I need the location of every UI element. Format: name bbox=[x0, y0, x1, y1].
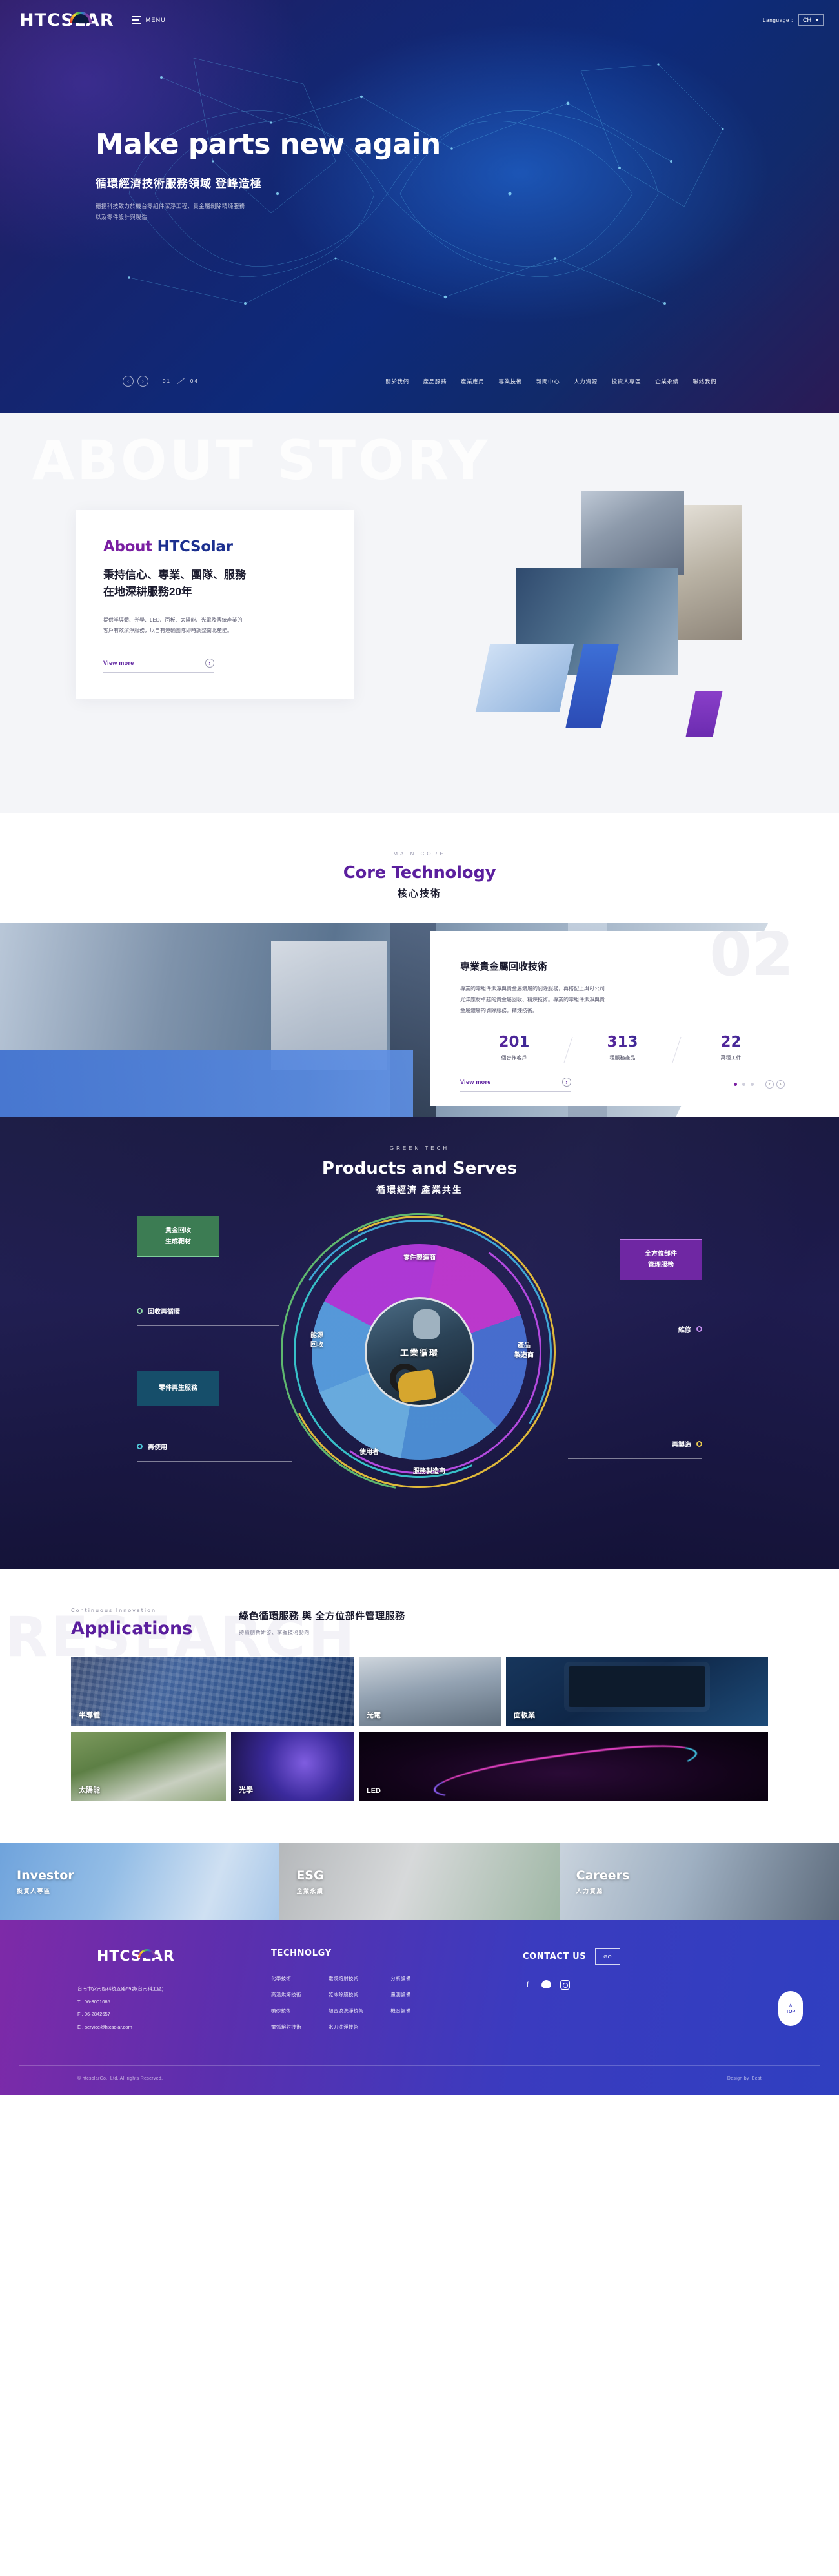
language-label: Language : bbox=[763, 17, 793, 23]
core-card-text: 專業的零組件潔淨與貴金屬鍍層的剝除服務，再搭配上與母公司 光洋應材卓越的貴金屬回… bbox=[460, 983, 785, 1017]
footer-design-by: Design by iBest bbox=[727, 2076, 762, 2081]
bullet-icon bbox=[696, 1326, 702, 1332]
banner-esg-zh: 企業永續 bbox=[296, 1886, 559, 1895]
core-card-footer: View more › ‹ › bbox=[460, 1078, 785, 1092]
footer-link-plasmaspray[interactable]: 電漿熔射技術 bbox=[329, 1975, 364, 1982]
stat-workpieces: 22 萬種工件 bbox=[677, 1034, 785, 1061]
line-icon[interactable] bbox=[541, 1980, 551, 1988]
footer-link-ultrasonic[interactable]: 超音波洗淨技術 bbox=[329, 2007, 364, 2014]
nav-item-news[interactable]: 新聞中心 bbox=[536, 378, 560, 385]
legend-remanufacture: 再製造 bbox=[672, 1439, 702, 1449]
about-view-more-button[interactable]: View more › bbox=[103, 659, 214, 673]
about-eyebrow: About HTCSolar bbox=[103, 538, 328, 555]
stat-workpieces-label: 萬種工件 bbox=[677, 1054, 785, 1061]
app-card-panel-label: 面板業 bbox=[514, 1710, 535, 1720]
core-photo-bath bbox=[0, 1050, 413, 1117]
page-root: HTCSLAR MENU Language : CH Make parts ne… bbox=[0, 0, 839, 2095]
nav-item-investor[interactable]: 投資人專區 bbox=[612, 378, 642, 385]
core-body: 02 專業貴金屬回收技術 專業的零組件潔淨與貴金屬鍍層的剝除服務，再搭配上與母公… bbox=[0, 923, 839, 1117]
hero-subtitle: 循環經濟技術服務領域 登峰造極 bbox=[96, 174, 441, 190]
footer-tech-col-2: 電漿熔射技術 乾冰除膜技術 超音波洗淨技術 水刀洗淨技術 bbox=[329, 1975, 364, 2039]
app-card-semiconductor-label: 半導體 bbox=[79, 1710, 100, 1720]
site-logo[interactable]: HTCSLAR bbox=[19, 10, 114, 30]
logo-text: HTCSLAR bbox=[19, 10, 114, 30]
app-card-optoelectronics-label: 光電 bbox=[367, 1710, 381, 1720]
segment-service-maker: 服務製造商 bbox=[413, 1467, 445, 1477]
about-heading-line-2: 在地深耕服務20年 bbox=[103, 584, 328, 600]
about-heading: 秉持信心、專業、團隊、服務 在地深耕服務20年 bbox=[103, 567, 328, 601]
footer-contact-row: CONTACT US GO bbox=[523, 1948, 762, 1965]
about-shape-purple bbox=[685, 691, 722, 737]
hamburger-icon bbox=[132, 16, 141, 24]
footer-technology-title: TECHNOLGY bbox=[271, 1948, 523, 1958]
footer-email[interactable]: E . service@htcsolar.com bbox=[77, 2021, 271, 2034]
nav-item-about[interactable]: 關於我們 bbox=[385, 378, 409, 385]
legend-reuse: 再使用 bbox=[137, 1442, 167, 1451]
banner-careers[interactable]: Careers 人力資源 bbox=[560, 1843, 839, 1920]
about-shape-light bbox=[476, 644, 574, 712]
tag-precious-metal-recovery: 貴金回收 生成靶材 bbox=[137, 1216, 219, 1257]
about-view-more-label: View more bbox=[103, 660, 134, 666]
about-card: About HTCSolar 秉持信心、專業、團隊、服務 在地深耕服務20年 提… bbox=[76, 510, 354, 699]
app-card-semiconductor[interactable]: 半導體 bbox=[71, 1657, 354, 1726]
legend-repair-label: 維修 bbox=[678, 1324, 691, 1334]
connector-line-4 bbox=[568, 1458, 702, 1459]
footer-copyright: © htcsolarCo., Ltd. All rights Reserved. bbox=[77, 2076, 163, 2081]
bullet-icon bbox=[696, 1441, 702, 1447]
about-photo-top bbox=[581, 491, 684, 575]
stat-products: 313 種服務產品 bbox=[569, 1034, 676, 1061]
segment-user: 使用者 bbox=[359, 1447, 379, 1457]
core-text-line-2: 光洋應材卓越的貴金屬回收、精煉技術。專業的零組件潔淨與貴 bbox=[460, 997, 605, 1003]
instagram-icon[interactable] bbox=[560, 1980, 570, 1990]
footer-tel: T . 06-3001065 bbox=[77, 1996, 271, 2009]
footer-inner: HTCSLAR 台南市安南區科技五路69號(台南科工區) T . 06-3001… bbox=[77, 1948, 762, 2039]
about-ghost-text: ABOUT STORY bbox=[32, 429, 490, 492]
banner-investor-zh: 投資人專區 bbox=[17, 1886, 279, 1895]
app-card-panel[interactable]: 面板業 bbox=[506, 1657, 768, 1726]
menu-label: MENU bbox=[146, 17, 166, 23]
footer-technology-links: 化學技術 高溫烘烤技術 噴砂技術 電弧熔射技術 電漿熔射技術 乾冰除膜技術 超音… bbox=[271, 1975, 523, 2039]
footer-contact-title: CONTACT US bbox=[523, 1952, 586, 1961]
chevron-up-icon: ∧ bbox=[789, 2003, 793, 2009]
hero-description: 德揚科技致力於機台零組件潔淨工程、貴金屬剝除精煉服務 以及零件設計與製造 bbox=[96, 201, 441, 221]
applications-grid: 半導體 光電 面板業 太陽能 光學 LED bbox=[71, 1657, 768, 1801]
core-prev-button[interactable]: ‹ bbox=[765, 1080, 774, 1089]
pagination-dot[interactable] bbox=[751, 1083, 754, 1086]
slide-total: 04 bbox=[190, 378, 199, 384]
stat-customers-label: 個合作客戶 bbox=[460, 1054, 568, 1061]
bullet-icon bbox=[137, 1444, 143, 1449]
applications-heading-left: Continuous Innovation Applications bbox=[71, 1608, 192, 1639]
core-ghost-number: 02 bbox=[709, 931, 794, 985]
footer-link-hightemp[interactable]: 高溫烘烤技術 bbox=[271, 1991, 301, 1998]
footer-link-sandblast[interactable]: 噴砂技術 bbox=[271, 2007, 301, 2014]
stat-products-label: 種服務產品 bbox=[569, 1054, 676, 1061]
site-header: HTCSLAR MENU Language : CH bbox=[0, 0, 839, 40]
slide-separator bbox=[177, 378, 185, 384]
footer-link-machine-equipment[interactable]: 機台設備 bbox=[390, 2007, 410, 2014]
stat-customers-number: 201 bbox=[460, 1034, 568, 1050]
about-paragraph-line-2: 客戶有效潔淨服務，以自有運輸團隊即時調整南北產能。 bbox=[103, 626, 328, 637]
products-section: GREEN TECH Products and Serves 循環經濟 產業共生… bbox=[0, 1117, 839, 1569]
promo-banners: Investor 投資人專區 ESG 企業永續 Careers 人力資源 bbox=[0, 1843, 839, 1920]
applications-heading: Continuous Innovation Applications 綠色循環服… bbox=[0, 1608, 839, 1639]
footer-address: 台南市安南區科技五路69號(台南科工區) bbox=[77, 1983, 271, 1996]
nav-item-products[interactable]: 產品服務 bbox=[423, 378, 447, 385]
nav-item-applications[interactable]: 產業應用 bbox=[461, 378, 484, 385]
footer-link-arcspray[interactable]: 電弧熔射技術 bbox=[271, 2023, 301, 2030]
nav-item-esg[interactable]: 企業永續 bbox=[655, 378, 678, 385]
tag-parts-regeneration: 零件再生服務 bbox=[137, 1371, 219, 1406]
hero-next-button[interactable]: › bbox=[137, 376, 148, 387]
back-to-top-label: TOP bbox=[786, 2010, 795, 2014]
nav-item-hr[interactable]: 人力資源 bbox=[574, 378, 597, 385]
core-title-zh: 核心技術 bbox=[0, 886, 839, 900]
app-card-solar-label: 太陽能 bbox=[79, 1784, 100, 1795]
legend-repair: 維修 bbox=[678, 1324, 702, 1334]
about-eyebrow-brand: HTCSolar bbox=[157, 538, 233, 555]
stat-customers: 201 個合作客戶 bbox=[460, 1034, 568, 1061]
segment-parts-maker: 零件製造商 bbox=[403, 1253, 436, 1263]
banner-esg[interactable]: ESG 企業永續 bbox=[279, 1843, 559, 1920]
products-eyebrow: GREEN TECH bbox=[0, 1145, 839, 1151]
core-stats: 201 個合作客戶 313 種服務產品 22 萬種工件 bbox=[460, 1034, 785, 1063]
hero-bottom-bar: ‹ › 01 04 關於我們 產品服務 產業應用 專業技術 新聞中心 人力資源 … bbox=[123, 376, 716, 387]
pagination-dot-active[interactable] bbox=[734, 1083, 737, 1086]
legend-recycle-label: 回收再循環 bbox=[148, 1306, 180, 1316]
segment-energy-recovery: 能源回收 bbox=[310, 1331, 323, 1350]
facebook-icon[interactable]: f bbox=[523, 1980, 532, 1990]
bullet-icon bbox=[137, 1308, 143, 1314]
core-view-more-label: View more bbox=[460, 1079, 491, 1085]
core-next-button[interactable]: › bbox=[776, 1080, 785, 1089]
hero-divider bbox=[123, 362, 716, 362]
core-technology-section: MAIN CORE Core Technology 核心技術 02 專業貴金屬回… bbox=[0, 813, 839, 1117]
app-card-optics-label: 光學 bbox=[239, 1784, 253, 1795]
connector-line-1 bbox=[137, 1325, 279, 1326]
about-paragraph-line-1: 提供半導體、光學、LED、面板、太陽能、光電及傳統產業的 bbox=[103, 615, 328, 626]
tag-purple-line-1: 全方位部件 bbox=[631, 1249, 691, 1260]
footer-logo[interactable]: HTCSLAR bbox=[97, 1948, 175, 1965]
applications-subtitle-zh: 持續創新研發、掌握技術動向 bbox=[239, 1629, 405, 1636]
tag-purple-line-2: 管理服務 bbox=[631, 1260, 691, 1271]
products-title-en: Products and Serves bbox=[0, 1159, 839, 1178]
app-card-led[interactable]: LED bbox=[359, 1732, 768, 1801]
legend-reuse-label: 再使用 bbox=[148, 1442, 167, 1451]
arrow-right-icon: › bbox=[205, 659, 214, 668]
core-view-more-button[interactable]: View more › bbox=[460, 1078, 571, 1092]
applications-title-zh: 綠色循環服務 與 全方位部件管理服務 bbox=[239, 1609, 405, 1622]
footer-tech-col-3: 分析設備 量測設備 機台設備 bbox=[390, 1975, 410, 2039]
footer-bottom: © htcsolarCo., Ltd. All rights Reserved.… bbox=[77, 2066, 762, 2095]
footer-logo-text: HTCSLAR bbox=[97, 1948, 175, 1965]
core-arrows: ‹ › bbox=[765, 1080, 785, 1089]
connector-line-2 bbox=[137, 1461, 292, 1462]
core-slider-pagination: ‹ › bbox=[734, 1080, 785, 1089]
menu-button[interactable]: MENU bbox=[132, 16, 166, 24]
footer-social-links: f bbox=[523, 1980, 762, 1990]
applications-eyebrow: Continuous Innovation bbox=[71, 1608, 192, 1613]
chevron-down-icon bbox=[815, 19, 819, 21]
core-card-title: 專業貴金屬回收技術 bbox=[460, 959, 785, 973]
back-to-top-button[interactable]: ∧ TOP bbox=[778, 1991, 803, 2026]
banner-careers-zh: 人力資源 bbox=[576, 1886, 839, 1895]
applications-heading-right: 綠色循環服務 與 全方位部件管理服務 持續創新研發、掌握技術動向 bbox=[239, 1609, 405, 1639]
tag-total-parts-management: 全方位部件 管理服務 bbox=[620, 1239, 702, 1280]
legend-recycle: 回收再循環 bbox=[137, 1306, 180, 1316]
segment-product-maker: 產品製造商 bbox=[514, 1341, 534, 1360]
footer-link-dryice[interactable]: 乾冰除膜技術 bbox=[329, 1991, 364, 1998]
products-heading: GREEN TECH Products and Serves 循環經濟 產業共生 bbox=[0, 1117, 839, 1196]
footer-link-measurement-equipment[interactable]: 量測設備 bbox=[390, 1991, 410, 1998]
footer-link-waterjet[interactable]: 水刀洗淨技術 bbox=[329, 2023, 364, 2030]
pagination-dot[interactable] bbox=[742, 1083, 745, 1086]
app-card-led-label: LED bbox=[367, 1787, 381, 1795]
core-text-line-3: 金屬鍍層的剝除服務，精煉技術。 bbox=[460, 1008, 538, 1014]
footer-fax: F . 06-2842657 bbox=[77, 2008, 271, 2021]
slide-current: 01 bbox=[163, 378, 171, 384]
footer-link-chemical[interactable]: 化學技術 bbox=[271, 1975, 301, 1982]
hero-desc-line-2: 以及零件設計與製造 bbox=[96, 212, 441, 222]
arrow-right-icon: › bbox=[562, 1078, 571, 1087]
tag-green-line-1: 貴金回收 bbox=[148, 1225, 208, 1236]
banner-esg-en: ESG bbox=[296, 1868, 559, 1883]
hero-arrows: ‹ › bbox=[123, 376, 148, 387]
legend-remanufacture-label: 再製造 bbox=[672, 1439, 691, 1449]
about-heading-line-1: 秉持信心、專業、團隊、服務 bbox=[103, 567, 328, 584]
footer-go-button[interactable]: GO bbox=[595, 1948, 620, 1965]
hero-title: Make parts new again bbox=[96, 129, 441, 160]
footer-link-analysis-equipment[interactable]: 分析設備 bbox=[390, 1975, 410, 1982]
banner-careers-en: Careers bbox=[576, 1868, 839, 1883]
banner-investor[interactable]: Investor 投資人專區 bbox=[0, 1843, 279, 1920]
about-eyebrow-about: About bbox=[103, 538, 157, 555]
core-title-en: Core Technology bbox=[0, 863, 839, 883]
diagram-rings: 工業循環 零件製造商 產品製造商 服務製造商 使用者 能源回收 bbox=[281, 1213, 558, 1491]
footer-contact-info: 台南市安南區科技五路69號(台南科工區) T . 06-3001065 F . … bbox=[77, 1983, 271, 2033]
applications-section: RESEARCH Continuous Innovation Applicati… bbox=[0, 1569, 839, 1843]
hero-desc-line-1: 德揚科技致力於機台零組件潔淨工程、貴金屬剝除精煉服務 bbox=[96, 201, 441, 211]
hero-slide-counter: 01 04 bbox=[163, 378, 199, 384]
language-select[interactable]: CH bbox=[798, 14, 824, 26]
core-text-line-1: 專業的零組件潔淨與貴金屬鍍層的剝除服務，再搭配上與母公司 bbox=[460, 986, 605, 992]
footer-company-column: HTCSLAR 台南市安南區科技五路69號(台南科工區) T . 06-3001… bbox=[77, 1948, 271, 2033]
footer-tech-col-1: 化學技術 高溫烘烤技術 噴砂技術 電弧熔射技術 bbox=[271, 1975, 301, 2039]
circular-economy-diagram: 貴金回收 生成靶材 零件再生服務 全方位部件 管理服務 回收再循環 再使用 維修 bbox=[0, 1201, 839, 1505]
tag-teal-line-1: 零件再生服務 bbox=[148, 1383, 208, 1394]
stat-products-number: 313 bbox=[569, 1034, 676, 1050]
site-footer: HTCSLAR 台南市安南區科技五路69號(台南科工區) T . 06-3001… bbox=[0, 1920, 839, 2095]
hero-section: HTCSLAR MENU Language : CH Make parts ne… bbox=[0, 0, 839, 413]
about-paragraph: 提供半導體、光學、LED、面板、太陽能、光電及傳統產業的 客戶有效潔淨服務，以自… bbox=[103, 615, 328, 637]
language-value: CH bbox=[803, 17, 811, 23]
core-eyebrow: MAIN CORE bbox=[0, 851, 839, 857]
header-right: Language : CH bbox=[763, 14, 824, 26]
hero-content: Make parts new again 循環經濟技術服務領域 登峰造極 德揚科… bbox=[96, 129, 441, 222]
app-card-optics[interactable]: 光學 bbox=[231, 1732, 354, 1801]
footer-contact-column: CONTACT US GO f bbox=[523, 1948, 762, 1990]
app-card-optoelectronics[interactable]: 光電 bbox=[359, 1657, 501, 1726]
connector-line-3 bbox=[573, 1344, 702, 1344]
main-navigation: 關於我們 產品服務 產業應用 專業技術 新聞中心 人力資源 投資人專區 企業永續… bbox=[385, 378, 716, 385]
nav-item-technology[interactable]: 專業技術 bbox=[498, 378, 521, 385]
core-card: 02 專業貴金屬回收技術 專業的零組件潔淨與貴金屬鍍層的剝除服務，再搭配上與母公… bbox=[430, 931, 814, 1106]
banner-investor-en: Investor bbox=[17, 1868, 279, 1883]
hero-prev-button[interactable]: ‹ bbox=[123, 376, 134, 387]
about-section: ABOUT STORY About HTCSolar 秉持信心、專業、團隊、服務… bbox=[0, 413, 839, 813]
products-title-zh: 循環經濟 產業共生 bbox=[0, 1183, 839, 1196]
footer-technology-column: TECHNOLGY 化學技術 高溫烘烤技術 噴砂技術 電弧熔射技術 電漿熔射技術… bbox=[271, 1948, 523, 2039]
about-image-collage bbox=[478, 491, 755, 749]
hero-slider-controls: ‹ › 01 04 bbox=[123, 376, 199, 387]
app-card-solar[interactable]: 太陽能 bbox=[71, 1732, 226, 1801]
nav-item-contact[interactable]: 聯絡我們 bbox=[693, 378, 716, 385]
stat-workpieces-number: 22 bbox=[677, 1034, 785, 1050]
tag-green-line-2: 生成靶材 bbox=[148, 1236, 208, 1247]
applications-title-en: Applications bbox=[71, 1619, 192, 1639]
